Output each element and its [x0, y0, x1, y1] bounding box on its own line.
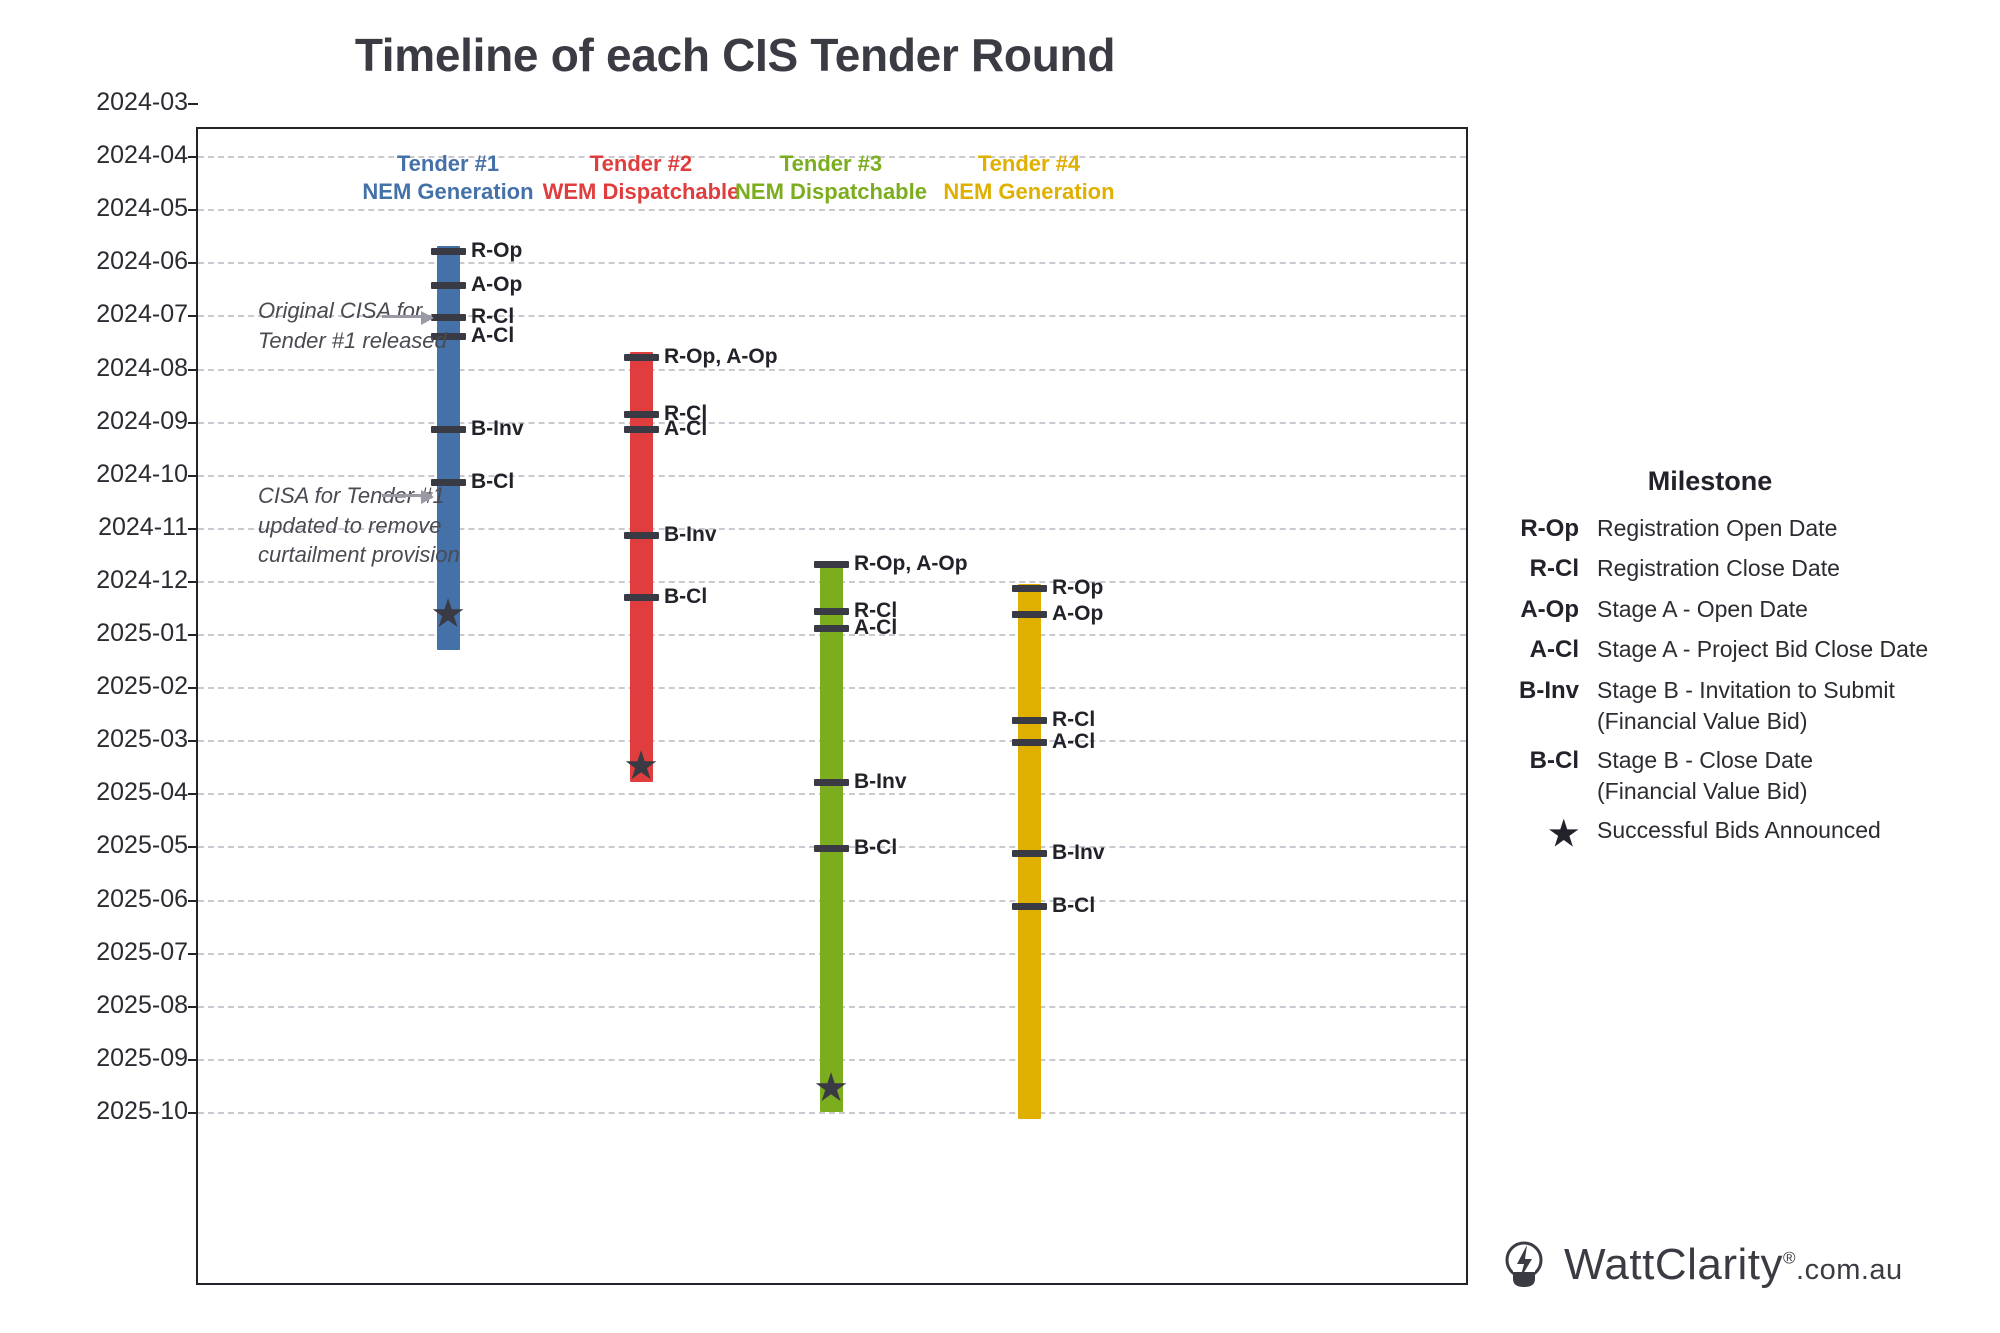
- tender-subtitle: NEM Generation: [889, 178, 1169, 206]
- milestone-tick: [1012, 903, 1047, 910]
- milestone-label: B-Cl: [854, 836, 897, 860]
- milestone-label: A-Cl: [854, 616, 897, 640]
- y-axis-tick-label: 2025-01: [38, 619, 188, 648]
- y-axis-tick-mark: [188, 793, 198, 795]
- timeline-bar-tender-3: [820, 561, 843, 1112]
- milestone-label: B-Inv: [1052, 841, 1105, 865]
- y-axis-tick-label: 2024-12: [38, 566, 188, 595]
- y-axis-tick-mark: [188, 475, 198, 477]
- milestone-tick: [431, 248, 466, 255]
- legend-key: A-Cl: [1495, 634, 1597, 666]
- milestone-tick: [814, 608, 849, 615]
- milestone-tick: [431, 426, 466, 433]
- y-axis-tick-mark: [188, 103, 198, 105]
- legend-description: Registration Close Date: [1597, 553, 1840, 584]
- legend-row: A-ClStage A - Project Bid Close Date: [1495, 634, 1965, 666]
- milestone-tick: [624, 354, 659, 361]
- milestone-label: R-Op: [1052, 576, 1103, 600]
- annotation-text: Original CISA for Tender #1 released: [258, 296, 447, 355]
- y-axis-tick-mark: [188, 315, 198, 317]
- y-axis-tick-label: 2024-03: [38, 88, 188, 117]
- legend-key: R-Cl: [1495, 553, 1597, 585]
- y-axis-tick-label: 2025-07: [38, 938, 188, 967]
- milestone-tick: [1012, 739, 1047, 746]
- y-axis-tick-label: 2025-05: [38, 831, 188, 860]
- gridline: [198, 209, 1466, 211]
- y-axis-tick-mark: [188, 156, 198, 158]
- gridline: [198, 1112, 1466, 1114]
- y-axis-tick-label: 2024-07: [38, 300, 188, 329]
- legend-row: R-OpRegistration Open Date: [1495, 513, 1965, 545]
- y-axis-tick-mark: [188, 1059, 198, 1061]
- milestone-label: A-Cl: [1052, 730, 1095, 754]
- y-axis-tick-mark: [188, 634, 198, 636]
- milestone-label: A-Op: [1052, 602, 1103, 626]
- milestone-label: R-Op, A-Op: [854, 552, 968, 576]
- milestone-label: B-Inv: [664, 523, 717, 547]
- legend-title: Milestone: [1455, 466, 1965, 497]
- y-axis-tick-mark: [188, 953, 198, 955]
- y-axis-tick-label: 2025-04: [38, 778, 188, 807]
- wattclarity-logo: WattClarity®.com.au: [1496, 1237, 1903, 1293]
- legend-description: Successful Bids Announced: [1597, 815, 1881, 846]
- milestone-tick: [624, 594, 659, 601]
- milestone-label: A-Cl: [664, 417, 707, 441]
- y-axis-tick-label: 2024-09: [38, 407, 188, 436]
- milestone-tick: [814, 625, 849, 632]
- milestone-tick: [624, 532, 659, 539]
- gridline: [198, 475, 1466, 477]
- milestone-label: B-Inv: [854, 770, 907, 794]
- y-axis-tick-mark: [188, 209, 198, 211]
- milestone-label: A-Op: [471, 273, 522, 297]
- milestone-label: B-Inv: [471, 417, 524, 441]
- y-axis-tick-mark: [188, 740, 198, 742]
- legend-row: B-ClStage B - Close Date (Financial Valu…: [1495, 745, 1965, 807]
- legend-description: Stage A - Open Date: [1597, 594, 1808, 625]
- gridline: [198, 262, 1466, 264]
- column-header-tender-4: Tender #4NEM Generation: [889, 150, 1169, 205]
- milestone-label: B-Cl: [471, 470, 514, 494]
- milestone-tick: [814, 845, 849, 852]
- milestone-tick: [1012, 717, 1047, 724]
- milestone-tick: [624, 411, 659, 418]
- legend-row: B-InvStage B - Invitation to Submit (Fin…: [1495, 675, 1965, 737]
- y-axis-tick-mark: [188, 528, 198, 530]
- milestone-tick: [1012, 611, 1047, 618]
- y-axis-tick-label: 2025-03: [38, 725, 188, 754]
- successful-bids-star-icon: ★: [623, 746, 659, 786]
- tender-name: Tender #4: [889, 150, 1169, 178]
- legend-description: Registration Open Date: [1597, 513, 1837, 544]
- milestone-label: B-Cl: [1052, 894, 1095, 918]
- annotation-arrow-icon: [382, 315, 432, 318]
- legend-star-icon: ★: [1495, 815, 1597, 851]
- y-axis-tick-mark: [188, 1006, 198, 1008]
- legend-description: Stage A - Project Bid Close Date: [1597, 634, 1928, 665]
- logo-wordmark: WattClarity®.com.au: [1564, 1240, 1903, 1290]
- y-axis-tick-label: 2024-11: [38, 513, 188, 542]
- annotation-arrow-icon: [382, 494, 432, 497]
- milestone-label: R-Cl: [1052, 708, 1095, 732]
- milestone-tick: [1012, 585, 1047, 592]
- milestone-tick: [624, 426, 659, 433]
- y-axis-tick-mark: [188, 422, 198, 424]
- milestone-tick: [814, 561, 849, 568]
- y-axis-tick-mark: [188, 369, 198, 371]
- y-axis-tick-mark: [188, 581, 198, 583]
- legend-description: Stage B - Close Date (Financial Value Bi…: [1597, 745, 1813, 807]
- page-title: Timeline of each CIS Tender Round: [0, 28, 1470, 82]
- y-axis-tick-mark: [188, 846, 198, 848]
- y-axis-tick-label: 2025-09: [38, 1044, 188, 1073]
- milestone-label: A-Cl: [471, 324, 514, 348]
- logo-tld: .com.au: [1796, 1254, 1903, 1286]
- successful-bids-star-icon: ★: [430, 594, 466, 634]
- logo-name: WattClarity: [1564, 1240, 1783, 1289]
- legend-key: B-Inv: [1495, 675, 1597, 707]
- y-axis-tick-label: 2025-08: [38, 991, 188, 1020]
- gridline: [198, 422, 1466, 424]
- y-axis-tick-label: 2025-02: [38, 672, 188, 701]
- y-axis-tick-label: 2024-04: [38, 141, 188, 170]
- y-axis-tick-label: 2024-06: [38, 247, 188, 276]
- milestone-label: B-Cl: [664, 585, 707, 609]
- y-axis-tick-mark: [188, 687, 198, 689]
- y-axis-tick-mark: [188, 262, 198, 264]
- milestone-label: R-Op, A-Op: [664, 345, 778, 369]
- gridline: [198, 369, 1466, 371]
- logo-registered: ®: [1783, 1248, 1796, 1267]
- legend-row: R-ClRegistration Close Date: [1495, 553, 1965, 585]
- lightbulb-icon: [1496, 1237, 1552, 1293]
- milestone-label: R-Op: [471, 239, 522, 263]
- y-axis-tick-label: 2025-10: [38, 1097, 188, 1126]
- y-axis-tick-label: 2024-08: [38, 354, 188, 383]
- y-axis-tick-label: 2024-05: [38, 194, 188, 223]
- legend-key: B-Cl: [1495, 745, 1597, 777]
- legend-key: A-Op: [1495, 594, 1597, 626]
- legend-row: ★Successful Bids Announced: [1495, 815, 1965, 851]
- legend-row: A-OpStage A - Open Date: [1495, 594, 1965, 626]
- milestone-tick: [431, 282, 466, 289]
- milestone-tick: [1012, 850, 1047, 857]
- successful-bids-star-icon: ★: [813, 1068, 849, 1108]
- milestone-tick: [814, 779, 849, 786]
- legend-description: Stage B - Invitation to Submit (Financia…: [1597, 675, 1895, 737]
- legend-key: R-Op: [1495, 513, 1597, 545]
- y-axis-tick-label: 2024-10: [38, 460, 188, 489]
- y-axis-tick-label: 2025-06: [38, 885, 188, 914]
- y-axis-tick-mark: [188, 1112, 198, 1114]
- y-axis-tick-mark: [188, 900, 198, 902]
- milestone-legend: Milestone R-OpRegistration Open DateR-Cl…: [1495, 466, 1965, 859]
